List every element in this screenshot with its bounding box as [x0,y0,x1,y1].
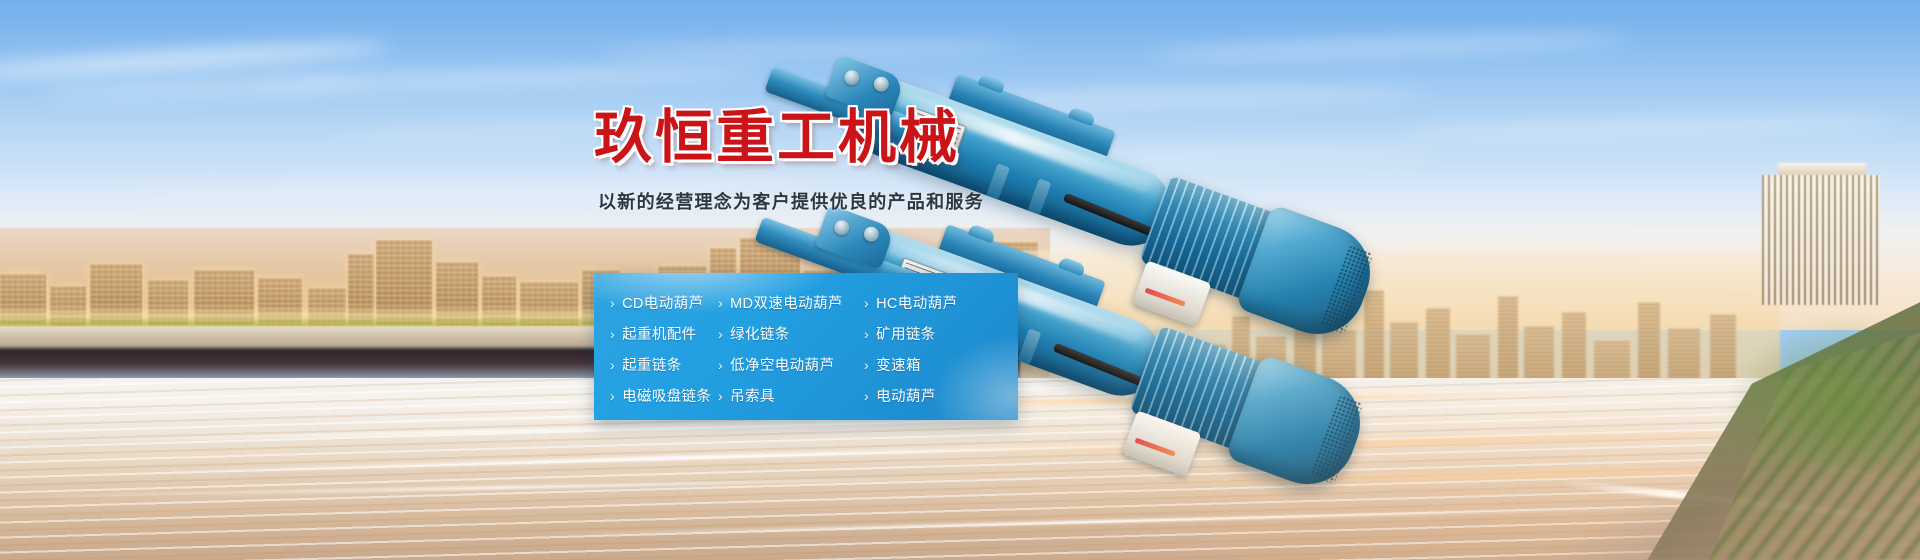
product-label: 电磁吸盘链条 [622,385,711,406]
lifting-lug-icon [967,223,996,243]
product-label: HC电动葫芦 [876,292,957,313]
cloud-streak-icon [0,39,390,81]
product-link-mining-chain[interactable]: › 矿用链条 [864,318,1018,349]
chevron-right-icon: › [718,389,723,403]
product-link-magnetic-chuck-chain[interactable]: › 电磁吸盘链条 [610,380,718,411]
motor-vent-icon [1320,244,1374,334]
bolt-icon [862,225,881,244]
product-link-cd-hoist[interactable]: › CD电动葫芦 [610,287,718,318]
product-link-lifting-chain[interactable]: › 起重链条 [610,349,718,380]
product-list-panel: › CD电动葫芦 › MD双速电动葫芦 › HC电动葫芦 › 起重机配件 › 绿… [594,273,1018,420]
control-box-label [1135,438,1176,457]
product-link-gearbox[interactable]: › 变速箱 [864,349,1018,380]
product-link-md-dual-speed-hoist[interactable]: › MD双速电动葫芦 [718,287,864,318]
chevron-right-icon: › [610,358,615,372]
bolt-icon [832,218,851,237]
lifting-lug-icon [977,73,1006,93]
product-link-landscaping-chain[interactable]: › 绿化链条 [718,318,864,349]
cloud-streak-icon [600,40,1020,58]
chevron-right-icon: › [610,389,615,403]
product-label: 起重链条 [622,354,682,375]
product-label: 起重机配件 [622,323,697,344]
product-label: 绿化链条 [730,323,790,344]
product-label: 吊索具 [730,385,775,406]
chevron-right-icon: › [718,296,723,310]
product-link-low-headroom-hoist[interactable]: › 低净空电动葫芦 [718,349,864,380]
chevron-right-icon: › [718,327,723,341]
bolt-icon [872,75,891,94]
lifting-lug-icon [1058,256,1087,276]
product-link-electric-hoist[interactable]: › 电动葫芦 [864,380,1018,411]
product-label: MD双速电动葫芦 [730,292,843,313]
motor-vent-icon [1310,394,1364,484]
bolt-icon [842,68,861,87]
product-label: CD电动葫芦 [622,292,703,313]
chevron-right-icon: › [610,296,615,310]
chevron-right-icon: › [718,358,723,372]
product-link-hc-hoist[interactable]: › HC电动葫芦 [864,287,1018,318]
lifting-lug-icon [1068,106,1097,126]
cloud-streak-icon [1150,32,1630,63]
company-subline: 以新的经营理念为客户提供优良的产品和服务 [598,188,1064,214]
product-link-slings[interactable]: › 吊索具 [718,380,864,411]
hero-banner: 玖恒重工机械 以新的经营理念为客户提供优良的产品和服务 › CD电动葫芦 › M… [0,0,1920,560]
chevron-right-icon: › [864,296,869,310]
product-label: 低净空电动葫芦 [730,354,834,375]
chevron-right-icon: › [610,327,615,341]
product-label: 电动葫芦 [876,385,936,406]
company-headline: 玖恒重工机械 [594,108,1064,169]
banner-copy: 玖恒重工机械 以新的经营理念为客户提供优良的产品和服务 [594,108,1064,214]
control-box-label [1145,288,1186,307]
product-label: 变速箱 [876,354,921,375]
product-label: 矿用链条 [876,323,936,344]
product-link-crane-parts[interactable]: › 起重机配件 [610,318,718,349]
chevron-right-icon: › [864,327,869,341]
cloud-streak-icon [250,66,770,92]
chevron-right-icon: › [864,358,869,372]
chevron-right-icon: › [864,389,869,403]
product-list-grid: › CD电动葫芦 › MD双速电动葫芦 › HC电动葫芦 › 起重机配件 › 绿… [594,273,1018,420]
